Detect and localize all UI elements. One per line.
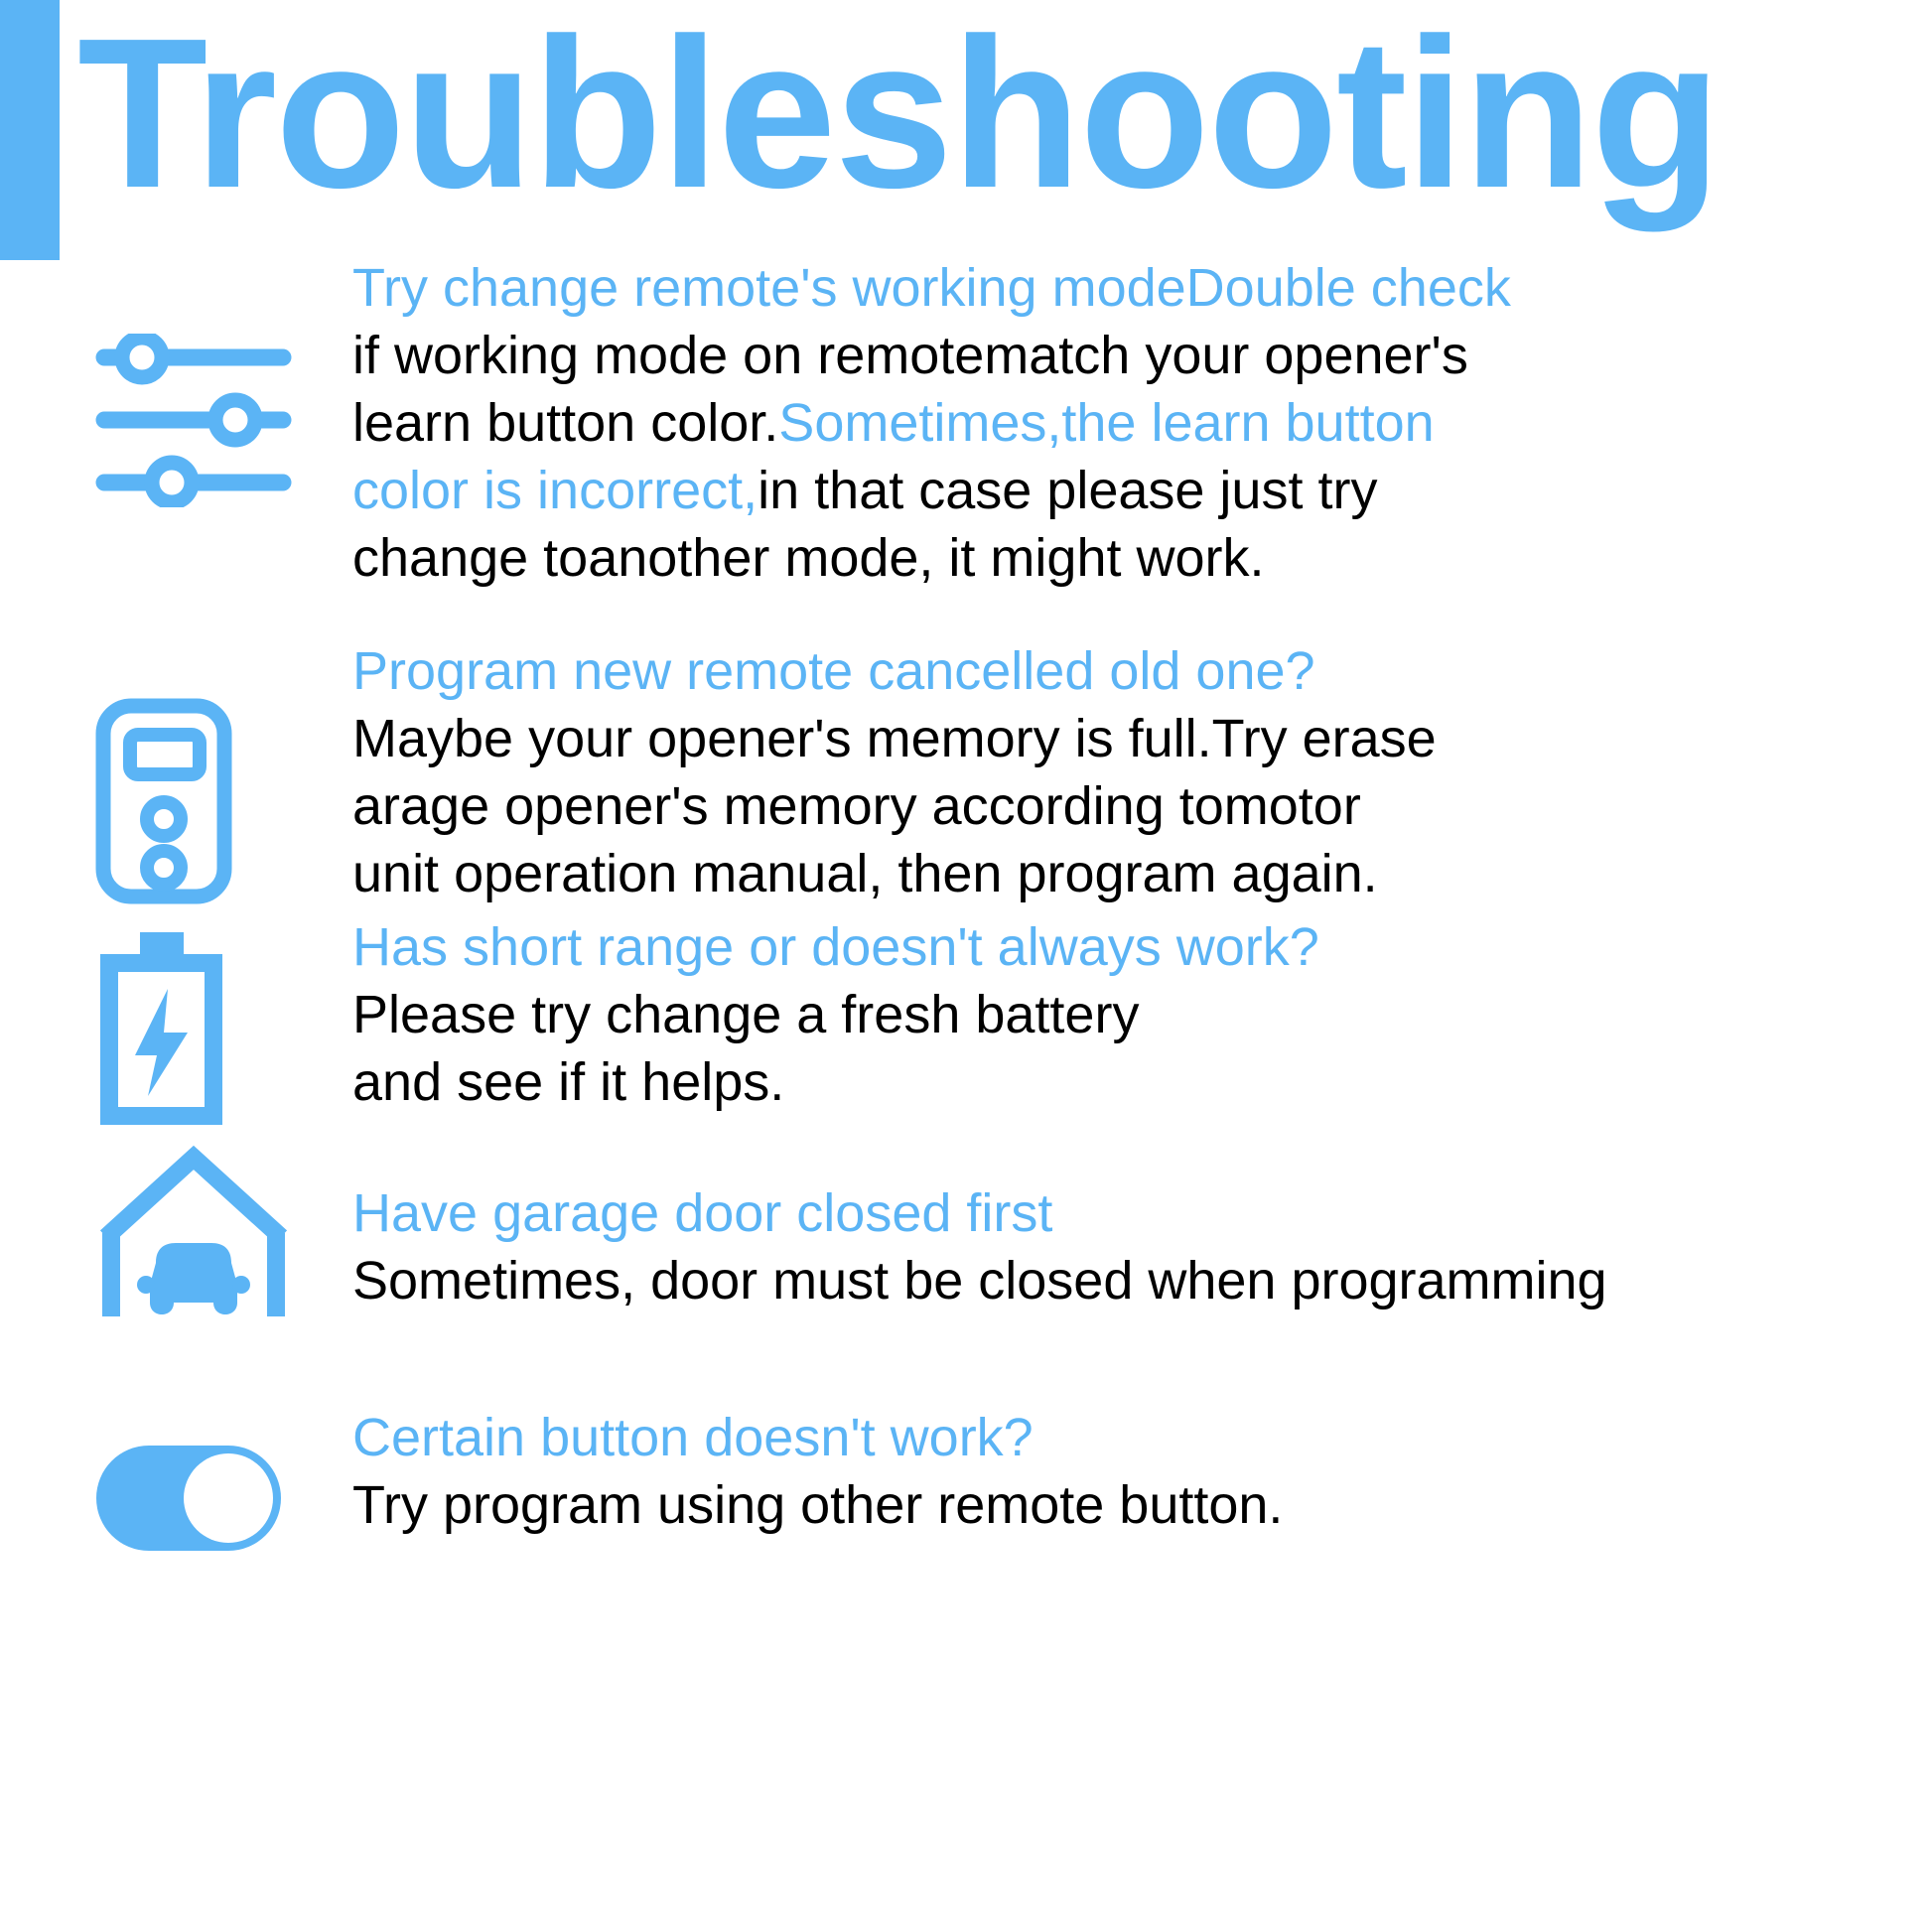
body-run: Maybe your opener's memory is full.Try e… — [352, 709, 1437, 768]
title-accent-bar — [0, 0, 60, 260]
troubleshooting-item-text: Certain button doesn't work? Try program… — [352, 1404, 1921, 1539]
body-run: change toanother mode, it might work. — [352, 528, 1265, 588]
garage-icon — [94, 1146, 293, 1324]
troubleshooting-item-body: Try program using other remote button. — [352, 1471, 1921, 1539]
page-title: Troubleshooting — [77, 6, 1720, 219]
body-line: and see if it helps. — [352, 1048, 1921, 1116]
body-line: Sometimes, door must be closed when prog… — [352, 1247, 1921, 1314]
troubleshooting-item-body: Sometimes, door must be closed when prog… — [352, 1247, 1921, 1314]
sliders-icon — [94, 334, 293, 507]
troubleshooting-item-text: Try change remote's working modeDouble c… — [352, 254, 1921, 592]
body-line: change toanother mode, it might work. — [352, 524, 1921, 592]
body-run: Please try change a fresh battery — [352, 985, 1139, 1044]
body-line: Maybe your opener's memory is full.Try e… — [352, 705, 1921, 772]
troubleshooting-item-heading: Certain button doesn't work? — [352, 1404, 1921, 1471]
body-run: Try program using other remote button. — [352, 1475, 1283, 1535]
body-run: and see if it helps. — [352, 1052, 784, 1112]
troubleshooting-item-text: Program new remote cancelled old one? Ma… — [352, 637, 1921, 907]
remote-icon — [94, 697, 233, 905]
body-run-accent: Sometimes,the learn button — [778, 393, 1434, 453]
body-run: learn button color. — [352, 393, 778, 453]
troubleshooting-item-text: Have garage door closed first Sometimes,… — [352, 1179, 1921, 1314]
troubleshooting-item-body: Maybe your opener's memory is full.Try e… — [352, 705, 1921, 907]
body-line: if working mode on remotematch your open… — [352, 322, 1921, 389]
body-run: if working mode on remotematch your open… — [352, 326, 1468, 385]
troubleshooting-item-body: Please try change a fresh battery and se… — [352, 981, 1921, 1116]
body-run: unit operation manual, then program agai… — [352, 844, 1378, 903]
body-line: Please try change a fresh battery — [352, 981, 1921, 1048]
body-line: arage opener's memory according tomotor — [352, 772, 1921, 840]
troubleshooting-item-heading: Have garage door closed first — [352, 1179, 1921, 1247]
body-run: arage opener's memory according tomotor — [352, 776, 1361, 836]
body-line: unit operation manual, then program agai… — [352, 840, 1921, 907]
body-line: Try program using other remote button. — [352, 1471, 1921, 1539]
body-line: color is incorrect,in that case please j… — [352, 457, 1921, 524]
toggle-icon — [94, 1444, 283, 1553]
body-line: learn button color.Sometimes,the learn b… — [352, 389, 1921, 457]
troubleshooting-item-text: Has short range or doesn't always work? … — [352, 913, 1921, 1116]
troubleshooting-item-heading: Try change remote's working modeDouble c… — [352, 254, 1921, 322]
body-run-accent: color is incorrect, — [352, 461, 758, 520]
body-run: in that case please just try — [758, 461, 1377, 520]
troubleshooting-item-heading: Program new remote cancelled old one? — [352, 637, 1921, 705]
troubleshooting-item-body: if working mode on remotematch your open… — [352, 322, 1921, 592]
body-run: Sometimes, door must be closed when prog… — [352, 1251, 1607, 1311]
troubleshooting-item-heading: Has short range or doesn't always work? — [352, 913, 1921, 981]
battery-icon — [94, 929, 228, 1128]
